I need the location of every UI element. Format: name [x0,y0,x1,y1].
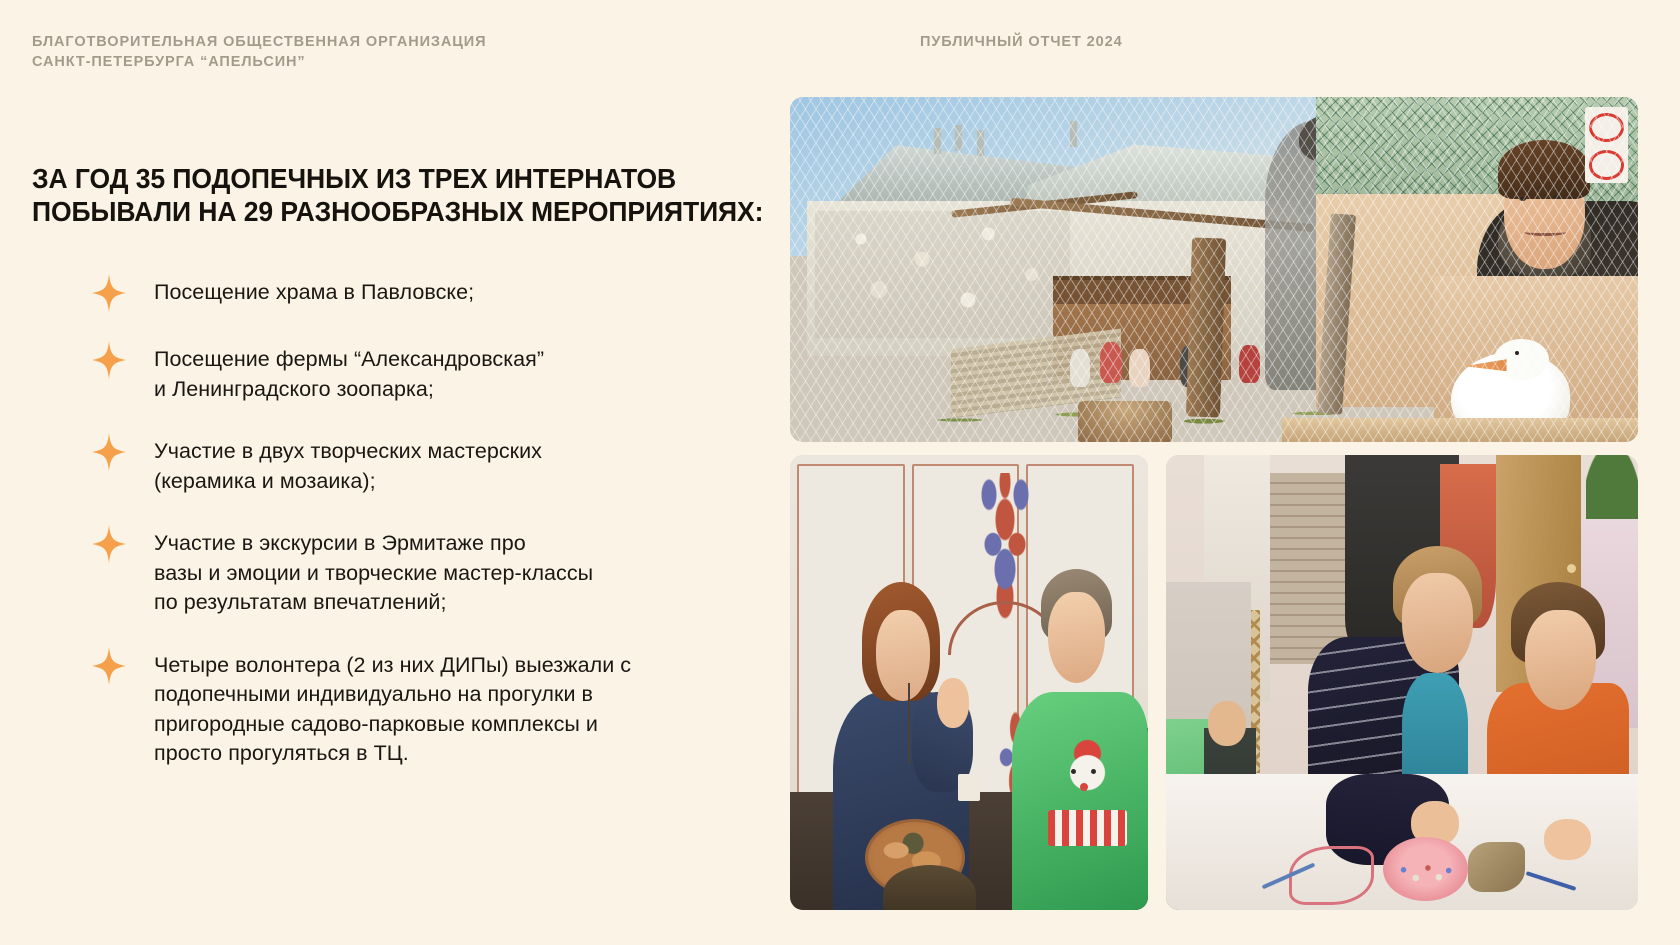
sparkle-star-icon [92,341,126,379]
list-item-line: Четыре волонтера (2 из них ДИПы) выезжал… [154,651,631,681]
photo-ceramics-workshop [790,455,1148,910]
page-title-line2: ПОБЫВАЛИ НА 29 РАЗНООБРАЗНЫХ МЕРОПРИЯТИЯ… [32,195,727,228]
organization-name: БЛАГОТВОРИТЕЛЬНАЯ ОБЩЕСТВЕННАЯ ОРГАНИЗАЦ… [32,32,486,72]
sparkle-star-icon [92,647,126,685]
list-item-line: пригородные садово-парковые комплексы и [154,710,631,740]
organization-name-line2: САНКТ-ПЕТЕРБУРГА “АПЕЛЬСИН” [32,52,486,72]
list-item-line: просто прогуляться в ТЦ. [154,739,631,769]
list-item: Посещение храма в Павловске; [92,278,772,312]
photo-mosaic-workshop [1166,455,1638,910]
list-item-line: Посещение храма в Павловске; [154,278,474,308]
sparkle-star-icon [92,274,126,312]
page-title-line1: ЗА ГОД 35 ПОДОПЕЧНЫХ ИЗ ТРЕХ ИНТЕРНАТОВ [32,162,727,195]
list-item-line: Участие в двух творческих мастерских [154,437,542,467]
list-item-line: подопечными индивидуально на прогулки в [154,680,631,710]
page-title: ЗА ГОД 35 ПОДОПЕЧНЫХ ИЗ ТРЕХ ИНТЕРНАТОВ … [32,162,727,228]
sparkle-star-icon [92,433,126,471]
list-item-line: по результатам впечатлений; [154,588,593,618]
photo-scene [790,97,1638,442]
list-item-text: Четыре волонтера (2 из них ДИПы) выезжал… [154,651,631,769]
list-item: Посещение фермы “Александровская” и Лени… [92,345,772,404]
activity-list: Посещение храма в Павловске; Посещение ф… [92,278,772,769]
list-item: Участие в экскурсии в Эрмитаже про вазы … [92,529,772,618]
list-item-text: Посещение храма в Павловске; [154,278,474,308]
slide-root: БЛАГОТВОРИТЕЛЬНАЯ ОБЩЕСТВЕННАЯ ОРГАНИЗАЦ… [0,0,1680,945]
list-item: Четыре волонтера (2 из них ДИПы) выезжал… [92,651,772,769]
list-item-text: Участие в двух творческих мастерских (ке… [154,437,542,496]
list-item-line: Участие в экскурсии в Эрмитаже про [154,529,593,559]
list-item-text: Посещение фермы “Александровская” и Лени… [154,345,544,404]
list-item-line: вазы и эмоции и творческие мастер-классы [154,559,593,589]
list-item-line: (керамика и мозаика); [154,467,542,497]
organization-name-line1: БЛАГОТВОРИТЕЛЬНАЯ ОБЩЕСТВЕННАЯ ОРГАНИЗАЦ… [32,32,486,52]
list-item: Участие в двух творческих мастерских (ке… [92,437,772,496]
photo-scene [790,455,1148,910]
list-item-text: Участие в экскурсии в Эрмитаже про вазы … [154,529,593,618]
list-item-line: Посещение фермы “Александровская” [154,345,544,375]
photo-scene [1166,455,1638,910]
photo-zoo-aviary-visit [790,97,1638,442]
report-label: ПУБЛИЧНЫЙ ОТЧЕТ 2024 [920,34,1123,50]
list-item-line: и Ленинградского зоопарка; [154,375,544,405]
sparkle-star-icon [92,525,126,563]
